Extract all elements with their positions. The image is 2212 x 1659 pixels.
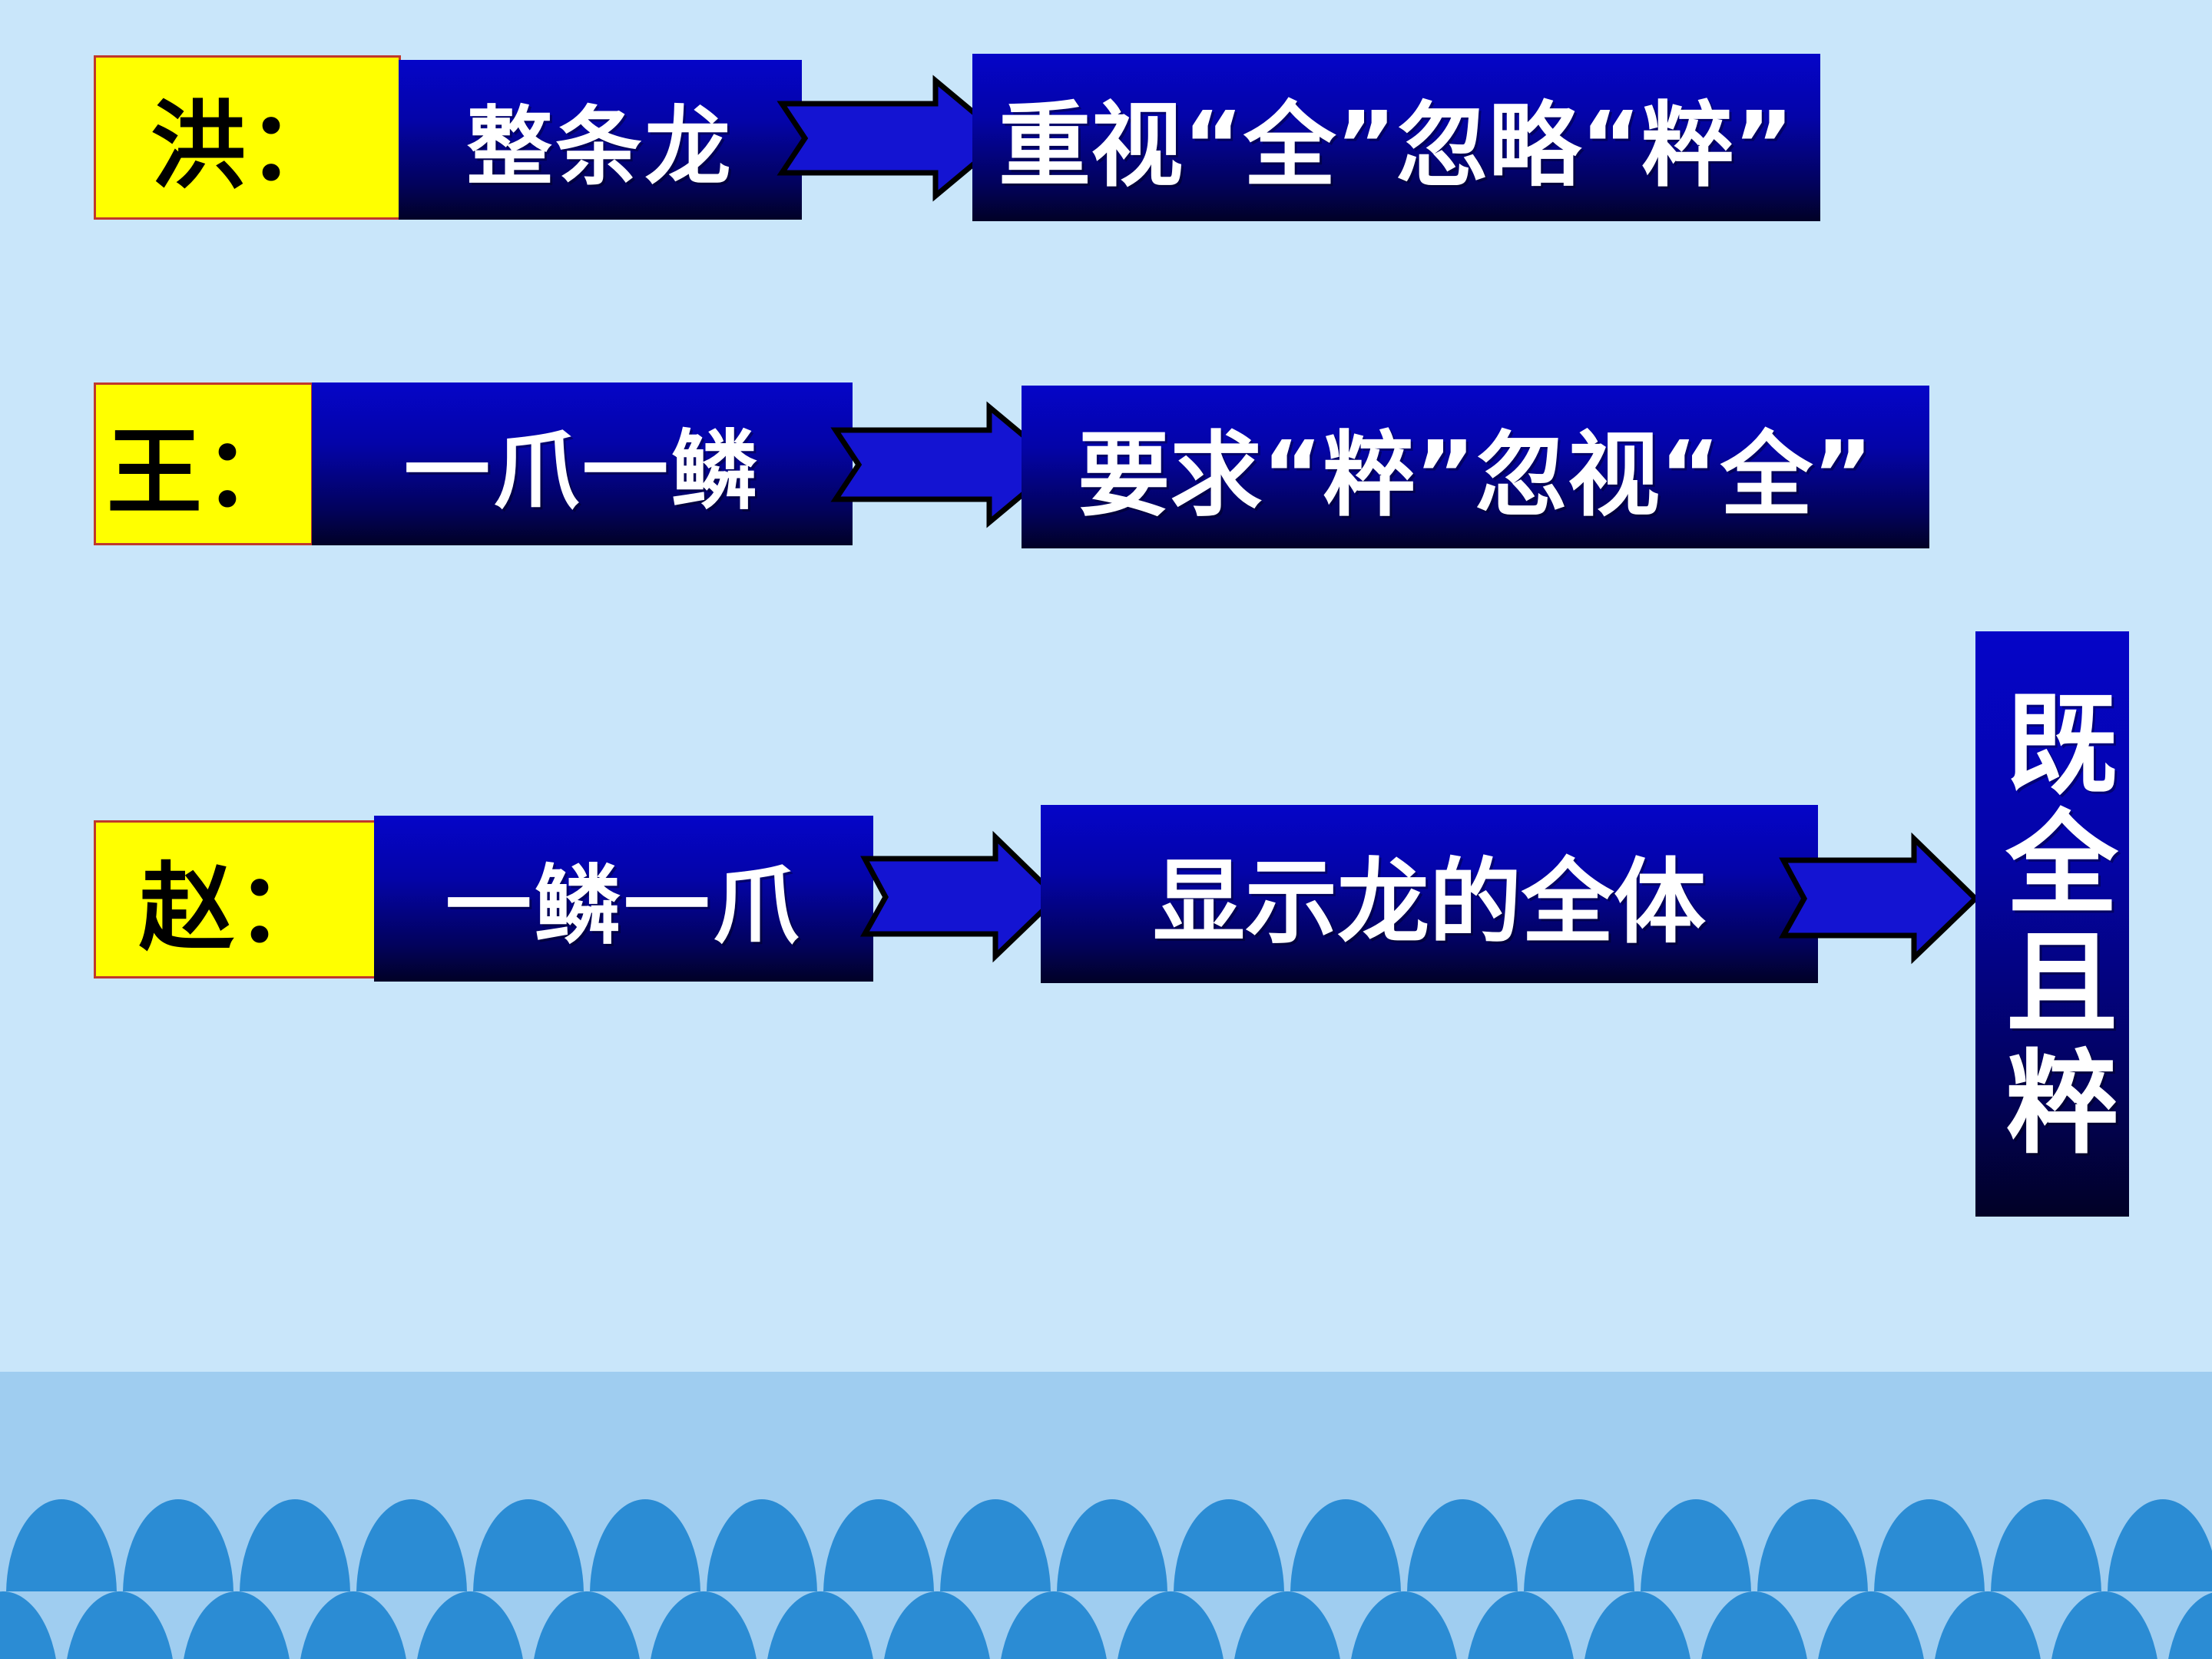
scallop-row-lower <box>0 1591 2212 1659</box>
row-zhao-right-arrow-icon <box>865 837 1057 956</box>
scallop-row-upper <box>0 1499 2212 1591</box>
row-zhao-label: 赵： <box>94 820 378 979</box>
row-zhao-right-arrow-2-icon <box>1783 839 1975 958</box>
conclusion-box: 既全且粹 <box>1975 631 2129 1217</box>
row-hong-right-arrow-icon <box>782 81 1005 196</box>
row-hong-result-box: 重视“全”忽略“粹” <box>972 54 1820 221</box>
row-zhao-result-box: 显示龙的全体 <box>1041 805 1818 983</box>
row-zhao-source-box: 一鳞一爪 <box>374 816 873 982</box>
slide-canvas: 洪： 整条龙 重视“全”忽略“粹” 王： 一爪一鳞 要求“粹”忽视“全” 赵： … <box>0 0 2212 1659</box>
row-hong-source-box: 整条龙 <box>399 60 802 220</box>
row-wang-result-box: 要求“粹”忽视“全” <box>1022 386 1929 548</box>
row-wang-label: 王： <box>94 382 313 545</box>
row-wang-source-box: 一爪一鳞 <box>312 382 853 545</box>
row-hong-label: 洪： <box>94 55 401 220</box>
